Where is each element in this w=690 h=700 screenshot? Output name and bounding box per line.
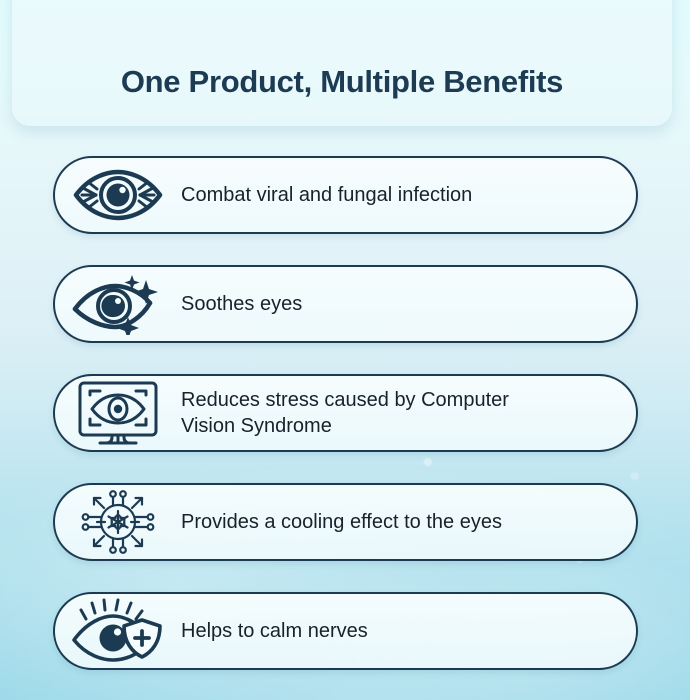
- benefit-list: Combat viral and fungal infection: [53, 156, 638, 700]
- benefit-text-4: Provides a cooling effect to the eyes: [181, 509, 520, 535]
- benefit-label-3: Reduces stress caused by Computer: [181, 389, 509, 411]
- monitor-eye-icon: [55, 376, 181, 450]
- benefit-label-4: Provides a cooling effect to the eyes: [181, 511, 502, 533]
- benefit-label-5: Helps to calm nerves: [181, 620, 368, 642]
- bloodshot-eye-icon: [55, 158, 181, 232]
- header-card: One Product, Multiple Benefits: [12, 0, 672, 126]
- benefit-row-4[interactable]: Provides a cooling effect to the eyes: [53, 483, 638, 561]
- benefit-text-5: Helps to calm nerves: [181, 618, 386, 644]
- benefit-row-3[interactable]: Reduces stress caused by Computer Vision…: [53, 374, 638, 452]
- benefit-label-1: Combat viral and fungal infection: [181, 184, 472, 206]
- benefits-infographic: One Product, Multiple Benefits: [0, 0, 690, 700]
- benefit-label-3-line2: Vision Syndrome: [181, 413, 509, 439]
- eye-shield-icon: [55, 594, 181, 668]
- page-title: One Product, Multiple Benefits: [121, 64, 563, 100]
- snowflake-cooling-icon: [55, 485, 181, 559]
- benefit-text-3: Reduces stress caused by Computer Vision…: [181, 387, 527, 439]
- benefit-label-2: Soothes eyes: [181, 293, 302, 315]
- benefit-row-1[interactable]: Combat viral and fungal infection: [53, 156, 638, 234]
- benefit-row-2[interactable]: Soothes eyes: [53, 265, 638, 343]
- sparkling-eye-icon: [55, 267, 181, 341]
- benefit-text-2: Soothes eyes: [181, 291, 320, 317]
- benefit-text-1: Combat viral and fungal infection: [181, 182, 490, 208]
- benefit-row-5[interactable]: Helps to calm nerves: [53, 592, 638, 670]
